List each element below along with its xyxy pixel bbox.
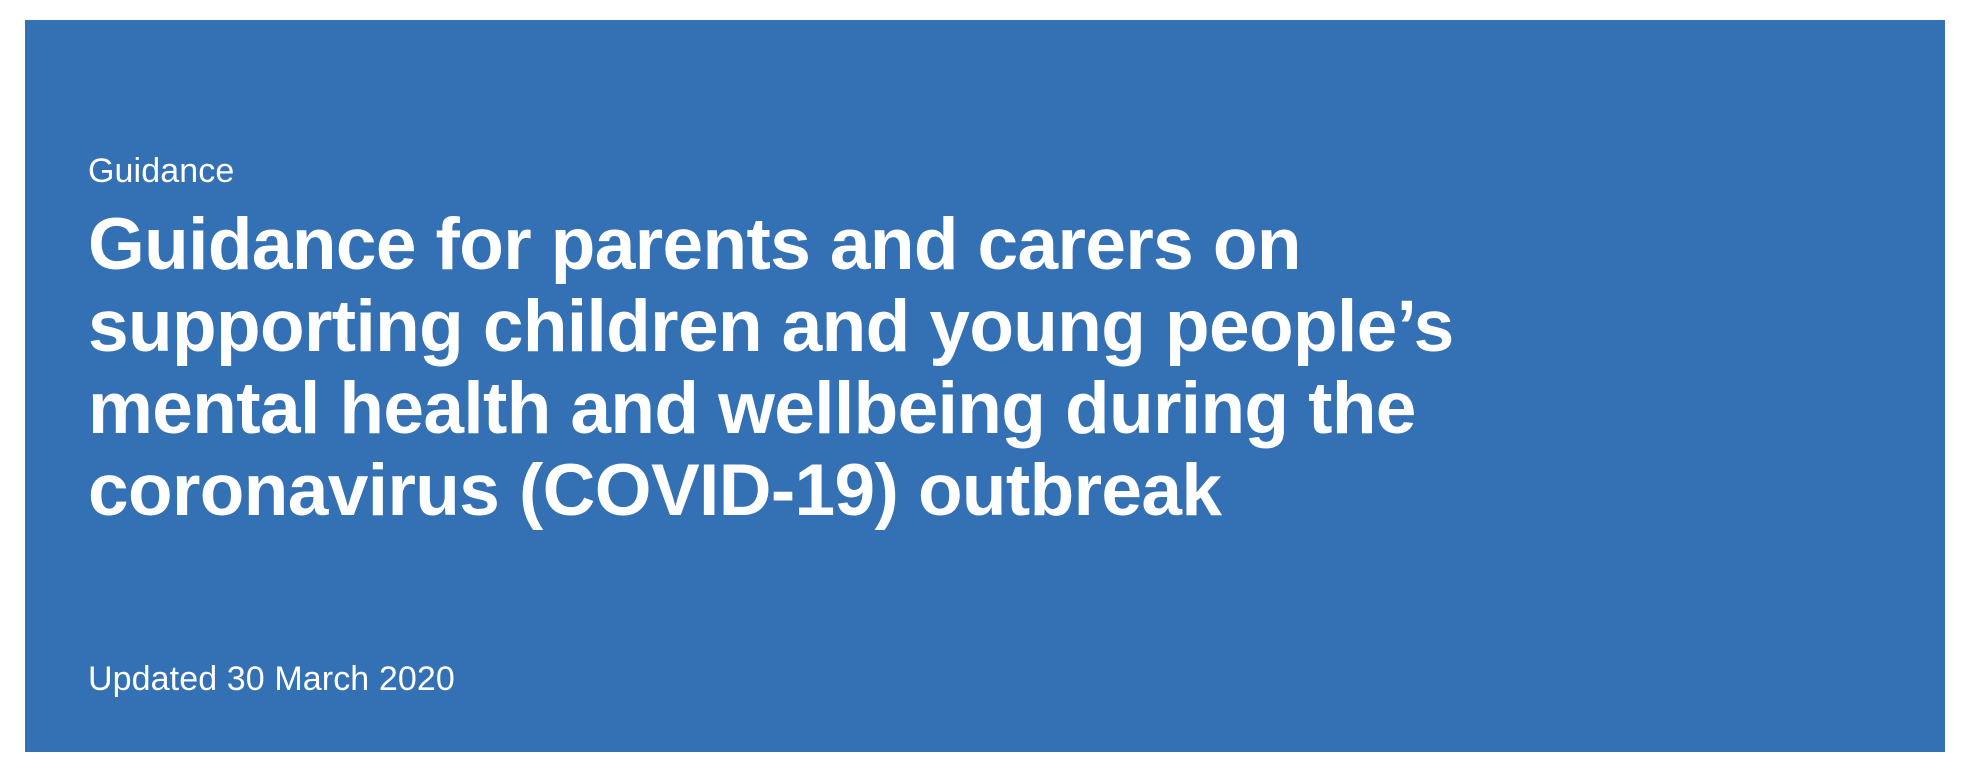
page-title-line-2: supporting children and young people’s: [88, 286, 1848, 368]
last-updated-label: Updated 30 March 2020: [88, 658, 455, 700]
page-title-line-3: mental health and wellbeing during the: [88, 368, 1848, 450]
page-title-line-4: coronavirus (COVID-19) outbreak: [88, 450, 1848, 532]
document-type-eyebrow: Guidance: [88, 150, 234, 192]
page-title: Guidance for parents and carers on suppo…: [88, 204, 1848, 532]
page-root: Guidance Guidance for parents and carers…: [0, 0, 1968, 774]
hero-content: Guidance Guidance for parents and carers…: [88, 20, 1888, 752]
hero-banner: Guidance Guidance for parents and carers…: [25, 20, 1945, 752]
page-title-line-1: Guidance for parents and carers on: [88, 204, 1848, 286]
